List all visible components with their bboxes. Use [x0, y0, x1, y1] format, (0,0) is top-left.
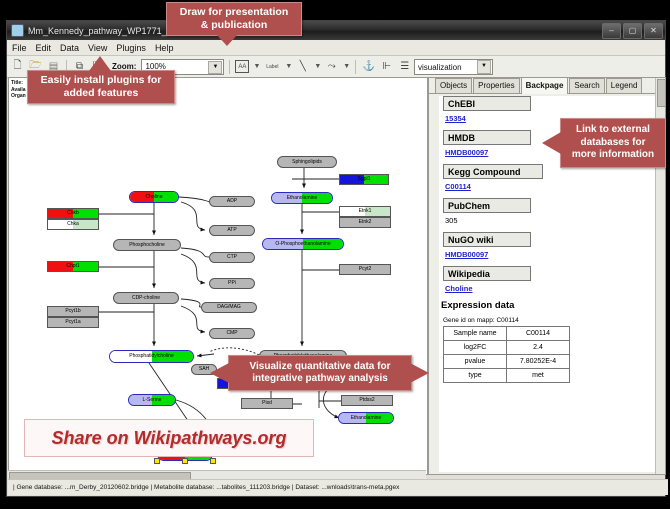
callout-share-text: Share on Wikipathways.org: [52, 428, 287, 449]
metabolite-node-o-phosphoethanolamine[interactable]: O-Phosphoethanolamine: [262, 238, 344, 250]
gene-node-etnk1[interactable]: Etnk1: [339, 206, 391, 217]
gene-node-sgpl1[interactable]: Sgpl1: [339, 174, 389, 185]
menu-file[interactable]: File: [12, 43, 27, 53]
label-tool-icon[interactable]: Label: [263, 59, 281, 74]
screenshot-root: Mm_Kennedy_pathway_WP1771_45176.gpml – ▢…: [0, 0, 670, 509]
menu-edit[interactable]: Edit: [36, 43, 52, 53]
chevron-down-icon[interactable]: ▼: [343, 63, 350, 70]
node-label: O-Phosphoethanolamine: [275, 242, 330, 247]
status-text: | Gene database: ...m_Derby_20120602.bri…: [13, 484, 399, 491]
node-label: DAG/MAG: [217, 305, 241, 310]
node-label: Ptdss2: [359, 398, 374, 403]
node-label: Phosphocholine: [129, 243, 165, 248]
node-label: CDP-choline: [132, 296, 160, 301]
minimize-button[interactable]: –: [602, 23, 621, 39]
section-header-pubchem: PubChem: [443, 198, 531, 213]
kegg-link[interactable]: C00114: [445, 182, 662, 191]
node-label: Sgpl1: [358, 177, 371, 182]
selection-handle[interactable]: [154, 458, 160, 464]
table-row: Sample name C00114: [444, 327, 570, 341]
arrow-tool-icon[interactable]: ⤳: [324, 59, 339, 74]
gene-node-pcyt2[interactable]: Pcyt2: [339, 264, 391, 275]
close-button[interactable]: ✕: [644, 23, 663, 39]
metabolite-node-ctp[interactable]: CTP: [209, 252, 255, 263]
gene-node-chkb[interactable]: Chkb: [47, 208, 99, 219]
node-label: Pisd: [262, 401, 272, 406]
node-label: Choline: [146, 195, 163, 200]
node-label: Phosphatidylcholine: [129, 354, 173, 359]
tab-properties[interactable]: Properties: [473, 78, 519, 93]
wikipedia-link[interactable]: Choline: [445, 284, 662, 293]
gene-node-chpt1[interactable]: Chpt1: [47, 261, 99, 272]
node-label: CTP: [227, 255, 237, 260]
section-header-hmdb: HMDB: [443, 130, 531, 145]
menu-bar: File Edit Data View Plugins Help: [7, 40, 665, 56]
table-row: pvalue 7.80252E-4: [444, 355, 570, 369]
tab-backpage[interactable]: Backpage: [521, 77, 569, 94]
cell-key: type: [444, 369, 507, 383]
node-label: Chpt1: [66, 264, 79, 269]
status-bar: | Gene database: ...m_Derby_20120602.bri…: [8, 479, 668, 495]
pathway-nodes: SphingolipidsEthanolamineO-Phosphoethano…: [9, 78, 427, 474]
menu-plugins[interactable]: Plugins: [116, 43, 146, 53]
callout-share-box: Share on Wikipathways.org: [24, 419, 314, 457]
node-label: Chkb: [67, 211, 79, 216]
table-row: type met: [444, 369, 570, 383]
expression-data-heading: Expression data: [441, 300, 662, 311]
gene-node-ptdss2[interactable]: Ptdss2: [341, 395, 393, 406]
maximize-button[interactable]: ▢: [623, 23, 642, 39]
gene-node-chka[interactable]: Chka: [47, 219, 99, 230]
toolbar-separator: [229, 60, 230, 74]
tab-objects[interactable]: Objects: [435, 78, 472, 93]
metabolite-node-sphingolipids[interactable]: Sphingolipids: [277, 156, 337, 168]
node-label: PPi: [228, 281, 236, 286]
node-label: CMP: [226, 331, 237, 336]
metabolite-node-cdp-choline[interactable]: CDP-choline: [113, 292, 179, 304]
window-buttons: – ▢ ✕: [602, 23, 663, 39]
gene-id-label: Gene id on mapp: C00114: [443, 317, 662, 324]
node-label: Ethanolamine: [351, 416, 382, 421]
panel-tabs: Objects Properties Backpage Search Legen…: [429, 78, 665, 94]
metabolite-node-ethanolamine[interactable]: Ethanolamine: [271, 192, 333, 204]
cell-key: Sample name: [444, 327, 507, 341]
callout-plugins-arrow: [89, 56, 111, 71]
node-label: SAH: [199, 367, 209, 372]
visualization-value: visualization: [418, 63, 462, 72]
metabolite-node-atp[interactable]: ATP: [209, 225, 255, 236]
toolbar-separator: [355, 60, 356, 74]
node-label: Pcyt1b: [65, 309, 80, 314]
align-left-tool-icon[interactable]: ⊩: [379, 59, 394, 74]
chevron-down-icon[interactable]: ▼: [314, 63, 321, 70]
callout-draw: Draw for presentation & publication: [166, 2, 302, 36]
node-label: Pcyt2: [359, 267, 372, 272]
table-row: log2FC 2.4: [444, 341, 570, 355]
callout-visualize: Visualize quantitative data for integrat…: [228, 355, 412, 391]
pathway-canvas[interactable]: Title: Availa Organ: [8, 77, 428, 475]
gene-node-pcyt1b[interactable]: Pcyt1b: [47, 306, 99, 317]
line-tool-icon[interactable]: ╲: [295, 59, 310, 74]
chevron-down-icon[interactable]: ▼: [253, 63, 260, 70]
callout-visualize-arrow-right: [410, 363, 429, 383]
tab-legend[interactable]: Legend: [606, 78, 643, 93]
metabolite-node-cmp[interactable]: CMP: [209, 328, 255, 339]
menu-help[interactable]: Help: [155, 43, 174, 53]
new-file-icon[interactable]: 🗋: [10, 59, 25, 74]
metabolite-node-phosphatidylcholine[interactable]: Phosphatidylcholine: [109, 350, 194, 363]
app-icon: [11, 24, 24, 37]
section-header-kegg: Kegg Compound: [443, 164, 543, 179]
node-label: L-Serine: [143, 398, 162, 403]
cell-value: 2.4: [507, 341, 570, 355]
nugo-link[interactable]: HMDB00097: [445, 250, 662, 259]
metabolite-node-dag-mag[interactable]: DAG/MAG: [201, 302, 257, 313]
cell-value: met: [507, 369, 570, 383]
gene-node-etnk2[interactable]: Etnk2: [339, 217, 391, 228]
title-bar: Mm_Kennedy_pathway_WP1771_45176.gpml – ▢…: [7, 21, 665, 40]
pubchem-value: 305: [445, 216, 662, 225]
callout-visualize-arrow-left: [210, 363, 229, 383]
metabolite-node-ppi[interactable]: PPi: [209, 278, 255, 289]
metabolite-node-ethanolamine[interactable]: Ethanolamine: [338, 412, 394, 424]
metabolite-node-adp[interactable]: ADP: [209, 196, 255, 207]
section-header-chebi: ChEBI: [443, 96, 531, 111]
node-label: Pcyt1a: [65, 320, 80, 325]
cell-value: C00114: [507, 327, 570, 341]
section-header-nugo: NuGO wiki: [443, 232, 531, 247]
callout-plugins: Easily install plugins for added feature…: [27, 70, 175, 104]
gene-node-pcyt1a[interactable]: Pcyt1a: [47, 317, 99, 328]
chevron-down-icon[interactable]: ▼: [208, 61, 222, 74]
selection-handle[interactable]: [210, 458, 216, 464]
node-label: Chka: [67, 222, 79, 227]
shape-tool-icon[interactable]: AA: [235, 60, 249, 73]
node-label: Ethanolamine: [287, 196, 318, 201]
metabolite-node-choline[interactable]: Choline: [129, 191, 179, 203]
callout-link-arrow: [542, 132, 561, 154]
callout-draw-arrow: [216, 34, 238, 46]
selection-handle[interactable]: [182, 458, 188, 464]
cell-key: log2FC: [444, 341, 507, 355]
callout-link: Link to external databases for more info…: [560, 118, 666, 168]
expression-table: Sample name C00114 log2FC 2.4 pvalue 7.8…: [443, 326, 570, 383]
tab-search[interactable]: Search: [569, 78, 604, 93]
cell-key: pvalue: [444, 355, 507, 369]
scrollbar-thumb[interactable]: [657, 79, 666, 107]
node-label: Sphingolipids: [292, 160, 322, 165]
distribute-tool-icon[interactable]: ☰: [397, 59, 412, 74]
node-label: Etnk1: [359, 209, 372, 214]
visualization-select[interactable]: visualization ▼: [414, 59, 493, 75]
section-header-wikipedia: Wikipedia: [443, 266, 531, 281]
anchor-tool-icon[interactable]: ⚓: [361, 59, 376, 74]
node-label: ADP: [227, 199, 237, 204]
menu-data[interactable]: Data: [60, 43, 79, 53]
chevron-down-icon[interactable]: ▼: [477, 60, 491, 74]
chevron-down-icon[interactable]: ▼: [285, 63, 292, 70]
metabolite-node-phosphocholine[interactable]: Phosphocholine: [113, 239, 181, 251]
menu-view[interactable]: View: [88, 43, 107, 53]
node-label: ATP: [227, 228, 236, 233]
gene-node-pisd[interactable]: Pisd: [241, 398, 293, 409]
metabolite-node-l-serine[interactable]: L-Serine: [128, 394, 176, 406]
cell-value: 7.80252E-4: [507, 355, 570, 369]
node-label: Etnk2: [359, 220, 372, 225]
